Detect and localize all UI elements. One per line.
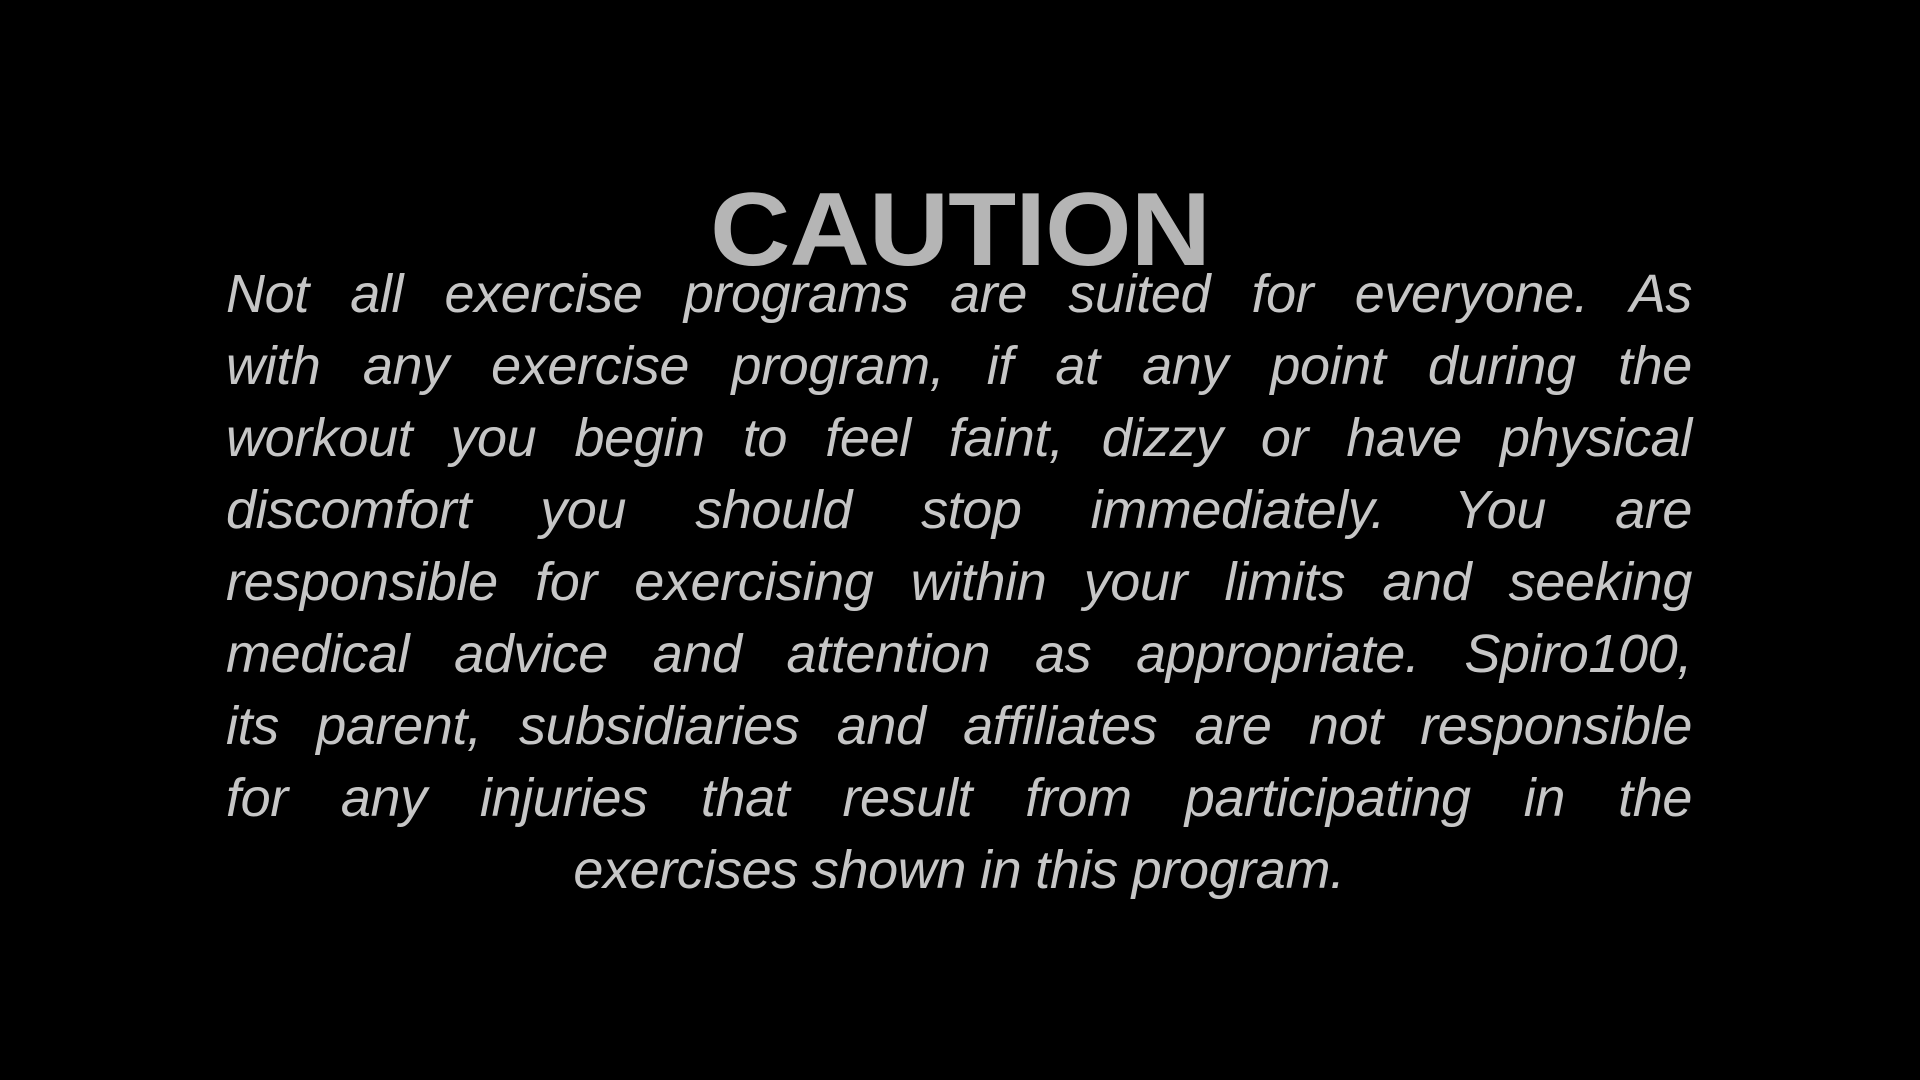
disclaimer-word: at	[1055, 330, 1099, 402]
disclaimer-word: stop	[921, 474, 1021, 546]
disclaimer-word: are	[1195, 690, 1272, 762]
disclaimer-word: attention	[787, 618, 991, 690]
disclaimer-word: its	[226, 690, 279, 762]
disclaimer-word: and	[653, 618, 742, 690]
disclaimer-word: feel	[825, 402, 910, 474]
disclaimer-word: any	[363, 330, 449, 402]
disclaimer-word: have	[1346, 402, 1462, 474]
disclaimer-word: physical	[1500, 402, 1692, 474]
disclaimer-word: program,	[731, 330, 944, 402]
disclaimer-word: advice	[454, 618, 608, 690]
disclaimer-word: parent,	[316, 690, 481, 762]
disclaimer-word: during	[1428, 330, 1576, 402]
disclaimer-line: foranyinjuriesthatresultfromparticipatin…	[226, 762, 1692, 834]
disclaimer-line: exercisesshowninthisprogram.	[226, 834, 1692, 906]
disclaimer-word: dizzy	[1102, 402, 1223, 474]
disclaimer-line: discomfortyoushouldstopimmediately.Youar…	[226, 474, 1692, 546]
disclaimer-word: are	[950, 258, 1027, 330]
disclaimer-word: responsible	[226, 546, 498, 618]
disclaimer-line: Notallexerciseprogramsaresuitedforeveryo…	[226, 258, 1692, 330]
disclaimer-word: limits	[1224, 546, 1345, 618]
disclaimer-word: suited	[1068, 258, 1210, 330]
disclaimer-word: program.	[1132, 834, 1345, 906]
disclaimer-word: immediately.	[1091, 474, 1385, 546]
disclaimer-word: responsible	[1420, 690, 1692, 762]
disclaimer-word: programs	[684, 258, 909, 330]
disclaimer-word: with	[226, 330, 320, 402]
disclaimer-word: injuries	[480, 762, 648, 834]
disclaimer-word: for	[226, 762, 288, 834]
disclaimer-word: seeking	[1509, 546, 1692, 618]
disclaimer-text-block: Notallexerciseprogramsaresuitedforeveryo…	[226, 258, 1692, 906]
disclaimer-word: any	[1142, 330, 1228, 402]
disclaimer-word: discomfort	[226, 474, 471, 546]
disclaimer-word: all	[350, 258, 403, 330]
disclaimer-word: result	[842, 762, 972, 834]
disclaimer-word: You	[1454, 474, 1546, 546]
disclaimer-word: are	[1615, 474, 1692, 546]
disclaimer-word: the	[1618, 762, 1692, 834]
disclaimer-word: Spiro100,	[1464, 618, 1692, 690]
disclaimer-word: affiliates	[963, 690, 1157, 762]
disclaimer-word: subsidiaries	[519, 690, 799, 762]
disclaimer-word: the	[1618, 330, 1692, 402]
disclaimer-word: exercises	[573, 834, 797, 906]
disclaimer-word: in	[980, 834, 1021, 906]
disclaimer-word: if	[987, 330, 1013, 402]
disclaimer-word: should	[695, 474, 852, 546]
disclaimer-word: exercise	[445, 258, 643, 330]
disclaimer-word: your	[1084, 546, 1187, 618]
disclaimer-word: any	[341, 762, 427, 834]
disclaimer-word: As	[1630, 258, 1692, 330]
disclaimer-word: appropriate.	[1136, 618, 1419, 690]
caution-disclaimer-slide: CAUTION Notallexerciseprogramsaresuitedf…	[0, 0, 1920, 1080]
disclaimer-word: and	[837, 690, 926, 762]
disclaimer-word: this	[1035, 834, 1117, 906]
disclaimer-word: everyone.	[1355, 258, 1589, 330]
disclaimer-word: for	[1252, 258, 1314, 330]
disclaimer-word: from	[1025, 762, 1131, 834]
disclaimer-word: point	[1270, 330, 1385, 402]
disclaimer-word: as	[1035, 618, 1091, 690]
disclaimer-word: faint,	[949, 402, 1064, 474]
disclaimer-word: medical	[226, 618, 409, 690]
disclaimer-word: shown	[812, 834, 966, 906]
disclaimer-word: exercising	[634, 546, 873, 618]
disclaimer-word: for	[535, 546, 597, 618]
disclaimer-word: workout	[226, 402, 412, 474]
disclaimer-word: within	[911, 546, 1047, 618]
disclaimer-word: exercise	[491, 330, 689, 402]
disclaimer-word: to	[743, 402, 787, 474]
disclaimer-word: begin	[575, 402, 705, 474]
disclaimer-word: participating	[1185, 762, 1471, 834]
disclaimer-line: withanyexerciseprogram,ifatanypointdurin…	[226, 330, 1692, 402]
disclaimer-word: Not	[226, 258, 309, 330]
disclaimer-line: itsparent,subsidiariesandaffiliatesareno…	[226, 690, 1692, 762]
disclaimer-line: medicaladviceandattentionasappropriate.S…	[226, 618, 1692, 690]
disclaimer-line: workoutyoubegintofeelfaint,dizzyorhaveph…	[226, 402, 1692, 474]
disclaimer-word: you	[450, 402, 536, 474]
disclaimer-word: that	[701, 762, 789, 834]
disclaimer-word: and	[1382, 546, 1471, 618]
disclaimer-word: not	[1309, 690, 1383, 762]
disclaimer-line: responsibleforexercisingwithinyourlimits…	[226, 546, 1692, 618]
disclaimer-word: or	[1261, 402, 1308, 474]
disclaimer-word: you	[540, 474, 626, 546]
disclaimer-word: in	[1524, 762, 1565, 834]
